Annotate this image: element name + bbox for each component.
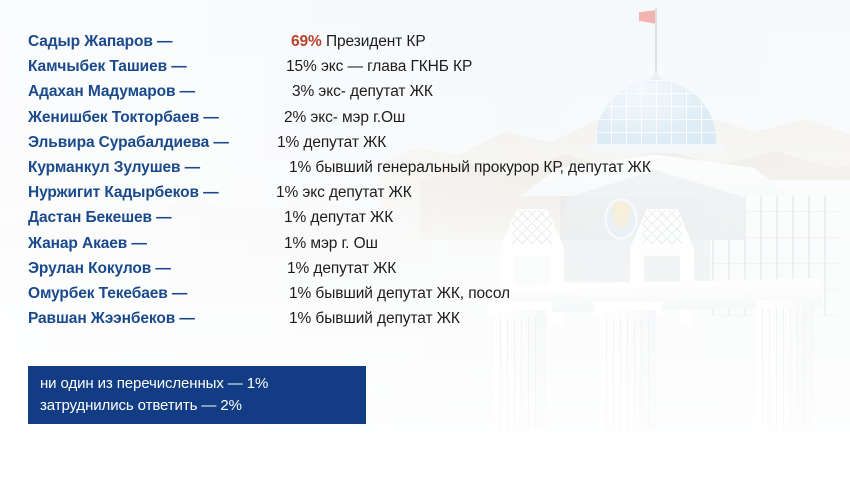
candidate-role: Президент КР — [326, 33, 426, 50]
percent-value: 1% — [277, 134, 299, 151]
candidate-name: Камчыбек Ташиев — — [28, 58, 187, 76]
footer-line: ни один из перечисленных — 1% — [40, 373, 354, 395]
percent-value: 69% — [291, 33, 322, 50]
candidate-name: Садыр Жапаров — — [28, 33, 172, 51]
candidate-name: Нуржигит Кадырбеков — — [28, 184, 219, 202]
candidate-value: 1% депутат ЖК — [278, 209, 393, 227]
candidate-name: Эрулан Кокулов — — [28, 260, 171, 278]
rating-row: Равшан Жээнбеков —1% бывший депутат ЖК — [28, 310, 828, 335]
percent-value: 1% — [289, 310, 311, 327]
rating-row: Адахан Мадумаров —3% экс- депутат ЖК — [28, 83, 828, 108]
candidate-role: бывший депутат ЖК — [315, 310, 459, 327]
candidate-name: Омурбек Текебаев — — [28, 285, 187, 303]
rating-row: Камчыбек Ташиев —15% экс — глава ГКНБ КР — [28, 58, 828, 83]
candidate-value: 1% экс депутат ЖК — [270, 184, 412, 202]
rating-row: Омурбек Текебаев —1% бывший депутат ЖК, … — [28, 285, 828, 310]
candidate-role: депутат ЖК — [303, 134, 386, 151]
footer-note-box: ни один из перечисленных — 1% затруднили… — [28, 366, 366, 424]
candidate-role: депутат ЖК — [313, 260, 396, 277]
percent-value: 1% — [287, 260, 309, 277]
percent-value: 2% — [284, 109, 306, 126]
candidate-name: Курманкул Зулушев — — [28, 159, 200, 177]
candidate-value: 1% депутат ЖК — [271, 134, 386, 152]
candidate-value: 2% экс- мэр г.Ош — [278, 109, 405, 127]
percent-value: 1% — [284, 209, 306, 226]
candidate-role: мэр г. Ош — [310, 235, 377, 252]
candidate-name: Эльвира Сурабалдиева — — [28, 134, 229, 152]
percent-value: 1% — [289, 159, 311, 176]
candidate-name: Равшан Жээнбеков — — [28, 310, 195, 328]
rating-row: Дастан Бекешев —1% депутат ЖК — [28, 209, 828, 234]
candidate-value: 1% бывший генеральный прокурор КР, депут… — [283, 159, 651, 177]
candidate-value: 1% бывший депутат ЖК — [283, 310, 460, 328]
slide-content: Садыр Жапаров —69% Президент КРКамчыбек … — [0, 0, 850, 478]
percent-value: 3% — [292, 83, 314, 100]
candidate-role: бывший генеральный прокурор КР, депутат … — [315, 159, 650, 176]
rating-row: Эльвира Сурабалдиева —1% депутат ЖК — [28, 134, 828, 159]
rating-list: Садыр Жапаров —69% Президент КРКамчыбек … — [28, 33, 828, 335]
candidate-value: 3% экс- депутат ЖК — [286, 83, 433, 101]
percent-value: 15% — [286, 58, 317, 75]
candidate-value: 1% депутат ЖК — [281, 260, 396, 278]
candidate-role: депутат ЖК — [310, 209, 393, 226]
candidate-value: 69% Президент КР — [285, 33, 426, 51]
candidate-value: 1% бывший депутат ЖК, посол — [283, 285, 510, 303]
rating-row: Женишбек Токторбаев —2% экс- мэр г.Ош — [28, 109, 828, 134]
percent-value: 1% — [284, 235, 306, 252]
rating-row: Садыр Жапаров —69% Президент КР — [28, 33, 828, 58]
candidate-role: экс депутат ЖК — [302, 184, 411, 201]
candidate-name: Жанар Акаев — — [28, 235, 147, 253]
candidate-role: бывший депутат ЖК, посол — [315, 285, 510, 302]
footer-line: затруднились ответить — 2% — [40, 395, 354, 417]
slide-root: Садыр Жапаров —69% Президент КРКамчыбек … — [0, 0, 850, 478]
candidate-role: экс- депутат ЖК — [318, 83, 432, 100]
candidate-value: 15% экс — глава ГКНБ КР — [280, 58, 472, 76]
candidate-name: Женишбек Токторбаев — — [28, 109, 219, 127]
candidate-role: экс — глава ГКНБ КР — [321, 58, 472, 75]
rating-row: Нуржигит Кадырбеков —1% экс депутат ЖК — [28, 184, 828, 209]
percent-value: 1% — [276, 184, 298, 201]
candidate-name: Дастан Бекешев — — [28, 209, 172, 227]
rating-row: Эрулан Кокулов —1% депутат ЖК — [28, 260, 828, 285]
rating-row: Жанар Акаев —1% мэр г. Ош — [28, 235, 828, 260]
candidate-role: экс- мэр г.Ош — [310, 109, 405, 126]
candidate-name: Адахан Мадумаров — — [28, 83, 195, 101]
candidate-value: 1% мэр г. Ош — [278, 235, 378, 253]
percent-value: 1% — [289, 285, 311, 302]
rating-row: Курманкул Зулушев —1% бывший генеральный… — [28, 159, 828, 184]
